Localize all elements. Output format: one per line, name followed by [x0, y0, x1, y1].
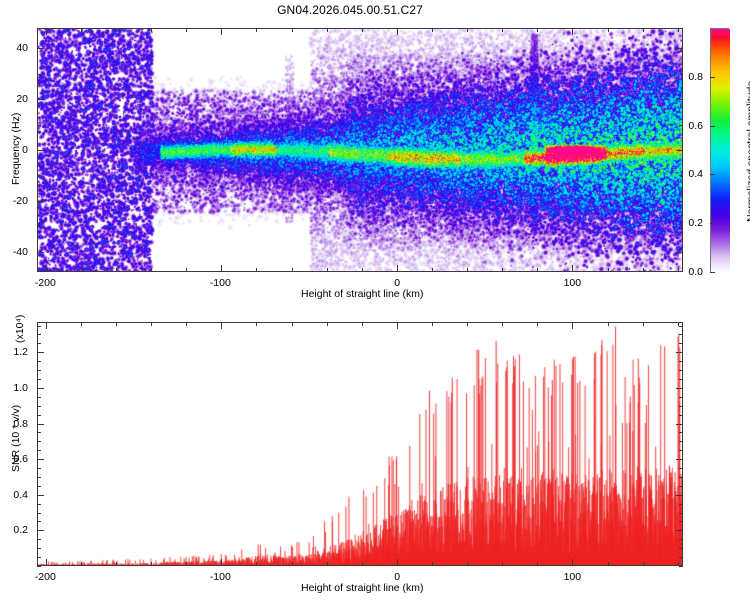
x-major-tick-top	[46, 322, 47, 329]
x-minor-tick-top	[678, 28, 679, 32]
x-minor-tick-top	[467, 322, 468, 326]
y-tick-label: -20	[13, 195, 28, 207]
y-minor-tick	[37, 379, 41, 380]
figure-root: GN04.2026.045.00.51.C27 -200-1000100-40-…	[0, 0, 750, 600]
y-minor-tick-right	[679, 379, 683, 380]
y-minor-tick	[37, 450, 41, 451]
x-minor-tick	[467, 268, 468, 272]
x-major-tick	[397, 559, 398, 566]
spectrogram-canvas	[38, 29, 683, 272]
x-minor-tick	[327, 268, 328, 272]
y-minor-tick-right	[679, 504, 683, 505]
snr-canvas	[38, 323, 683, 566]
y-minor-tick	[37, 468, 41, 469]
x-minor-tick	[116, 268, 117, 272]
snr-yaxis-label: SNR (10 * v/v)	[10, 405, 22, 472]
y-major-tick	[37, 48, 44, 49]
y-tick-label: 20	[16, 93, 28, 105]
y-minor-tick-right	[679, 125, 683, 126]
y-minor-tick-right	[679, 397, 683, 398]
x-major-tick-top	[397, 28, 398, 35]
y-tick-label: 1.2	[13, 346, 28, 358]
x-minor-tick-top	[327, 28, 328, 32]
x-major-tick	[397, 265, 398, 272]
y-minor-tick-right	[679, 432, 683, 433]
y-minor-tick	[37, 477, 41, 478]
y-minor-tick	[37, 548, 41, 549]
x-minor-tick-top	[608, 28, 609, 32]
x-minor-tick-top	[502, 322, 503, 326]
y-minor-tick	[37, 513, 41, 514]
x-minor-tick-top	[292, 322, 293, 326]
y-minor-tick	[37, 539, 41, 540]
colorbar-tick-label: 0.8	[688, 71, 703, 83]
y-tick-label: 40	[16, 42, 28, 54]
colorbar-tick	[710, 223, 715, 224]
x-minor-tick-top	[116, 322, 117, 326]
x-major-tick-top	[46, 28, 47, 35]
x-minor-tick-top	[362, 28, 363, 32]
y-major-tick	[37, 530, 44, 531]
y-minor-tick	[37, 343, 41, 344]
x-minor-tick-top	[643, 28, 644, 32]
y-tick-label: 1.0	[13, 382, 28, 394]
x-minor-tick	[643, 268, 644, 272]
y-minor-tick-right	[679, 548, 683, 549]
x-minor-tick-top	[432, 28, 433, 32]
x-minor-tick	[151, 562, 152, 566]
x-minor-tick	[186, 562, 187, 566]
x-minor-tick	[467, 562, 468, 566]
y-minor-tick-right	[679, 566, 683, 567]
x-tick-label: -200	[35, 277, 56, 289]
y-tick-label: 0.4	[13, 489, 28, 501]
x-minor-tick	[151, 268, 152, 272]
x-minor-tick	[362, 562, 363, 566]
x-major-tick	[46, 265, 47, 272]
y-major-tick-right	[676, 252, 683, 253]
y-minor-tick-right	[679, 450, 683, 451]
y-minor-tick-right	[679, 74, 683, 75]
snr-xaxis-label: Height of straight line (km)	[301, 582, 424, 594]
x-major-tick	[221, 265, 222, 272]
colorbar-tick-label: 0.6	[688, 120, 703, 132]
y-minor-tick	[37, 125, 41, 126]
y-tick-label: 0.2	[13, 524, 28, 536]
x-minor-tick-top	[151, 28, 152, 32]
x-major-tick-top	[221, 322, 222, 329]
y-major-tick	[37, 495, 44, 496]
colorbar-label: Normalized spectral amplitude	[745, 81, 750, 222]
x-minor-tick-top	[256, 322, 257, 326]
x-minor-tick	[292, 562, 293, 566]
x-minor-tick-top	[432, 322, 433, 326]
x-minor-tick-top	[608, 322, 609, 326]
x-minor-tick	[608, 562, 609, 566]
y-major-tick-right	[676, 530, 683, 531]
y-minor-tick-right	[679, 539, 683, 540]
y-minor-tick	[37, 432, 41, 433]
y-minor-tick-right	[679, 477, 683, 478]
y-major-tick	[37, 150, 44, 151]
y-major-tick-right	[676, 352, 683, 353]
y-minor-tick-right	[679, 370, 683, 371]
x-minor-tick-top	[502, 28, 503, 32]
colorbar-tick	[710, 272, 715, 273]
x-major-tick-top	[572, 28, 573, 35]
y-minor-tick	[37, 441, 41, 442]
x-minor-tick	[643, 562, 644, 566]
y-minor-tick-right	[679, 486, 683, 487]
y-minor-tick	[37, 326, 41, 327]
x-minor-tick	[116, 562, 117, 566]
figure-title: GN04.2026.045.00.51.C27	[0, 3, 700, 17]
x-minor-tick	[81, 562, 82, 566]
y-major-tick-right	[676, 150, 683, 151]
y-minor-tick	[37, 566, 41, 567]
colorbar-gradient	[711, 29, 730, 273]
x-major-tick-top	[221, 28, 222, 35]
y-major-tick-right	[676, 388, 683, 389]
x-major-tick	[221, 559, 222, 566]
y-major-tick-right	[676, 201, 683, 202]
x-minor-tick-top	[186, 322, 187, 326]
y-major-tick	[37, 459, 44, 460]
x-major-tick-top	[397, 322, 398, 329]
x-major-tick	[46, 559, 47, 566]
x-minor-tick	[292, 268, 293, 272]
colorbar-tick	[710, 126, 715, 127]
y-minor-tick	[37, 175, 41, 176]
x-minor-tick-top	[151, 322, 152, 326]
y-minor-tick	[37, 415, 41, 416]
y-minor-tick-right	[679, 468, 683, 469]
y-minor-tick-right	[679, 334, 683, 335]
spectrogram-xaxis-label: Height of straight line (km)	[301, 288, 424, 300]
y-major-tick-right	[676, 459, 683, 460]
y-minor-tick	[37, 361, 41, 362]
x-minor-tick	[81, 268, 82, 272]
y-minor-tick	[37, 504, 41, 505]
x-tick-label: -100	[210, 277, 231, 289]
snr-yaxis-multiplier: (x10⁴)	[14, 315, 26, 343]
x-minor-tick-top	[292, 28, 293, 32]
colorbar-tick	[710, 174, 715, 175]
x-minor-tick	[502, 268, 503, 272]
x-minor-tick-top	[467, 28, 468, 32]
x-tick-label: -100	[210, 571, 231, 583]
x-major-tick	[572, 265, 573, 272]
y-major-tick	[37, 99, 44, 100]
x-minor-tick	[537, 562, 538, 566]
x-minor-tick	[537, 268, 538, 272]
x-minor-tick-top	[643, 322, 644, 326]
x-major-tick	[572, 559, 573, 566]
colorbar-tick	[710, 77, 715, 78]
y-minor-tick-right	[679, 175, 683, 176]
y-minor-tick	[37, 486, 41, 487]
y-minor-tick	[37, 397, 41, 398]
x-minor-tick	[502, 562, 503, 566]
x-tick-label: 100	[564, 277, 582, 289]
x-minor-tick	[256, 268, 257, 272]
y-tick-label: -40	[13, 246, 28, 258]
y-minor-tick	[37, 226, 41, 227]
x-minor-tick-top	[81, 28, 82, 32]
x-minor-tick	[432, 562, 433, 566]
colorbar-tick-label: 0.0	[688, 266, 703, 278]
y-major-tick-right	[676, 48, 683, 49]
y-minor-tick	[37, 557, 41, 558]
y-major-tick-right	[676, 99, 683, 100]
x-minor-tick	[362, 268, 363, 272]
x-minor-tick-top	[81, 322, 82, 326]
y-major-tick	[37, 388, 44, 389]
colorbar	[710, 28, 729, 272]
x-minor-tick-top	[327, 322, 328, 326]
y-minor-tick	[37, 334, 41, 335]
colorbar-tick-label: 0.2	[688, 217, 703, 229]
y-minor-tick-right	[679, 361, 683, 362]
y-minor-tick	[37, 406, 41, 407]
y-minor-tick	[37, 370, 41, 371]
y-major-tick	[37, 424, 44, 425]
x-tick-label: -200	[35, 571, 56, 583]
x-minor-tick-top	[116, 28, 117, 32]
x-minor-tick	[256, 562, 257, 566]
x-major-tick-top	[572, 322, 573, 329]
y-minor-tick-right	[679, 226, 683, 227]
y-minor-tick-right	[679, 557, 683, 558]
y-tick-label: 0	[22, 144, 28, 156]
snr-plot-area	[37, 322, 683, 566]
y-minor-tick-right	[679, 521, 683, 522]
y-major-tick-right	[676, 424, 683, 425]
y-minor-tick-right	[679, 406, 683, 407]
x-minor-tick	[678, 268, 679, 272]
y-major-tick	[37, 201, 44, 202]
y-minor-tick-right	[679, 441, 683, 442]
x-minor-tick	[327, 562, 328, 566]
x-minor-tick-top	[186, 28, 187, 32]
y-major-tick	[37, 352, 44, 353]
x-minor-tick	[608, 268, 609, 272]
y-major-tick	[37, 252, 44, 253]
y-minor-tick-right	[679, 415, 683, 416]
x-minor-tick-top	[256, 28, 257, 32]
x-minor-tick-top	[362, 322, 363, 326]
colorbar-tick-label: 0.4	[688, 168, 703, 180]
y-minor-tick-right	[679, 343, 683, 344]
spectrogram-yaxis-label: Frequency (Hz)	[10, 113, 22, 185]
x-tick-label: 100	[564, 571, 582, 583]
x-minor-tick	[432, 268, 433, 272]
y-minor-tick-right	[679, 513, 683, 514]
y-major-tick-right	[676, 495, 683, 496]
y-minor-tick	[37, 74, 41, 75]
y-minor-tick-right	[679, 326, 683, 327]
y-minor-tick	[37, 521, 41, 522]
x-minor-tick-top	[537, 28, 538, 32]
x-minor-tick-top	[537, 322, 538, 326]
spectrogram-plot-area	[37, 28, 683, 272]
x-minor-tick	[186, 268, 187, 272]
